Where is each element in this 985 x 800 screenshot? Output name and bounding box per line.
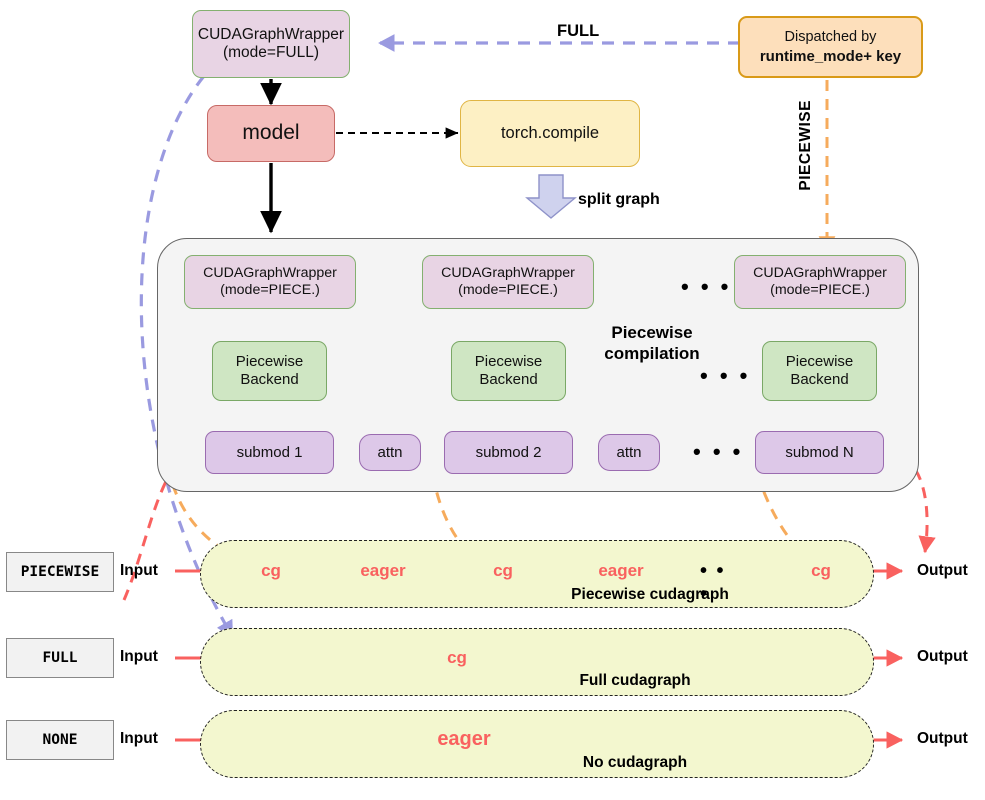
lane-full-step-1: cg (440, 648, 474, 668)
ellipsis-backend-row: • • • (700, 365, 750, 387)
attn-2-box[interactable]: attn (598, 434, 660, 471)
output-label-none: Output (917, 730, 968, 748)
dispatch-runtime-mode: runtime_mode (760, 48, 863, 65)
backend-2-line1: Piecewise (475, 353, 543, 370)
edge-label-split-graph: split graph (578, 191, 660, 209)
backend-1-line1: Piecewise (236, 353, 304, 370)
model-label: model (242, 121, 299, 146)
lane-piecewise-step-6: cg (804, 561, 838, 581)
edge-label-piecewise: PIECEWISE (797, 100, 815, 191)
cudagraph-wrapper-piece-2[interactable]: CUDAGraphWrapper (mode=PIECE.) (422, 255, 594, 309)
wrapper-n-line1: CUDAGraphWrapper (753, 265, 887, 281)
submod-n-label: submod N (785, 444, 853, 462)
dispatch-line1: Dispatched by (785, 29, 877, 45)
torch-compile-label: torch.compile (501, 124, 599, 143)
submod-2-label: submod 2 (476, 444, 542, 462)
lane-piecewise-step-1: cg (254, 561, 288, 581)
lane-piecewise-step-3: cg (486, 561, 520, 581)
output-label-piecewise: Output (917, 562, 968, 580)
lane-caption-none: No cudagraph (520, 754, 750, 772)
lane-none-step-1: eager (424, 728, 504, 751)
input-label-none: Input (120, 730, 158, 748)
lane-piecewise-ellipsis: • • • (700, 560, 740, 606)
input-label-full: Input (120, 648, 158, 666)
output-label-full: Output (917, 648, 968, 666)
wrapper-1-line1: CUDAGraphWrapper (203, 265, 337, 281)
dispatch-key: + key (863, 48, 901, 65)
wrapper-full-line1: CUDAGraphWrapper (198, 26, 344, 43)
attn-1-label: attn (377, 444, 402, 462)
diagram-canvas: CUDAGraphWrapper (mode=FULL) model torch… (0, 0, 985, 800)
dispatch-box[interactable]: Dispatched by runtime_mode+ key (738, 16, 923, 78)
mode-tag-none-label: NONE (43, 732, 78, 748)
lane-caption-full: Full cudagraph (520, 672, 750, 690)
piecewise-backend-2[interactable]: Piecewise Backend (451, 341, 566, 401)
backend-2-line2: Backend (479, 371, 537, 388)
split-graph-arrow-icon (527, 175, 575, 218)
input-label-piecewise: Input (120, 562, 158, 580)
mode-tag-none[interactable]: NONE (6, 720, 114, 760)
submod-2-box[interactable]: submod 2 (444, 431, 573, 474)
wrapper-1-line2: (mode=PIECE.) (220, 282, 320, 298)
attn-2-label: attn (616, 444, 641, 462)
model-box[interactable]: model (207, 105, 335, 162)
attn-1-box[interactable]: attn (359, 434, 421, 471)
wrapper-full-line2: (mode=FULL) (223, 44, 319, 61)
ellipsis-submod-row: • • • (693, 441, 743, 463)
submod-1-box[interactable]: submod 1 (205, 431, 334, 474)
wrapper-2-line2: (mode=PIECE.) (458, 282, 558, 298)
panel-title-line2: compilation (604, 344, 699, 363)
cudagraph-wrapper-piece-n[interactable]: CUDAGraphWrapper (mode=PIECE.) (734, 255, 906, 309)
piecewise-backend-n[interactable]: Piecewise Backend (762, 341, 877, 401)
mode-tag-full[interactable]: FULL (6, 638, 114, 678)
cudagraph-wrapper-piece-1[interactable]: CUDAGraphWrapper (mode=PIECE.) (184, 255, 356, 309)
lane-caption-piecewise: Piecewise cudagraph (520, 586, 780, 604)
wrapper-n-line2: (mode=PIECE.) (770, 282, 870, 298)
cudagraph-wrapper-full-box[interactable]: CUDAGraphWrapper (mode=FULL) (192, 10, 350, 78)
lane-piecewise-step-2: eager (352, 561, 414, 581)
mode-tag-full-label: FULL (43, 650, 78, 666)
mode-tag-piecewise-label: PIECEWISE (21, 564, 100, 580)
edge-label-full: FULL (557, 22, 599, 41)
submod-1-label: submod 1 (237, 444, 303, 462)
backend-n-line1: Piecewise (786, 353, 854, 370)
panel-title-line1: Piecewise (611, 323, 692, 342)
submod-n-box[interactable]: submod N (755, 431, 884, 474)
lane-piecewise-step-4: eager (590, 561, 652, 581)
backend-1-line2: Backend (240, 371, 298, 388)
piecewise-backend-1[interactable]: Piecewise Backend (212, 341, 327, 401)
ellipsis-wrapper-row: • • • (681, 276, 731, 298)
backend-n-line2: Backend (790, 371, 848, 388)
torch-compile-box[interactable]: torch.compile (460, 100, 640, 167)
wrapper-2-line1: CUDAGraphWrapper (441, 265, 575, 281)
panel-title: Piecewise compilation (572, 322, 732, 365)
mode-tag-piecewise[interactable]: PIECEWISE (6, 552, 114, 592)
